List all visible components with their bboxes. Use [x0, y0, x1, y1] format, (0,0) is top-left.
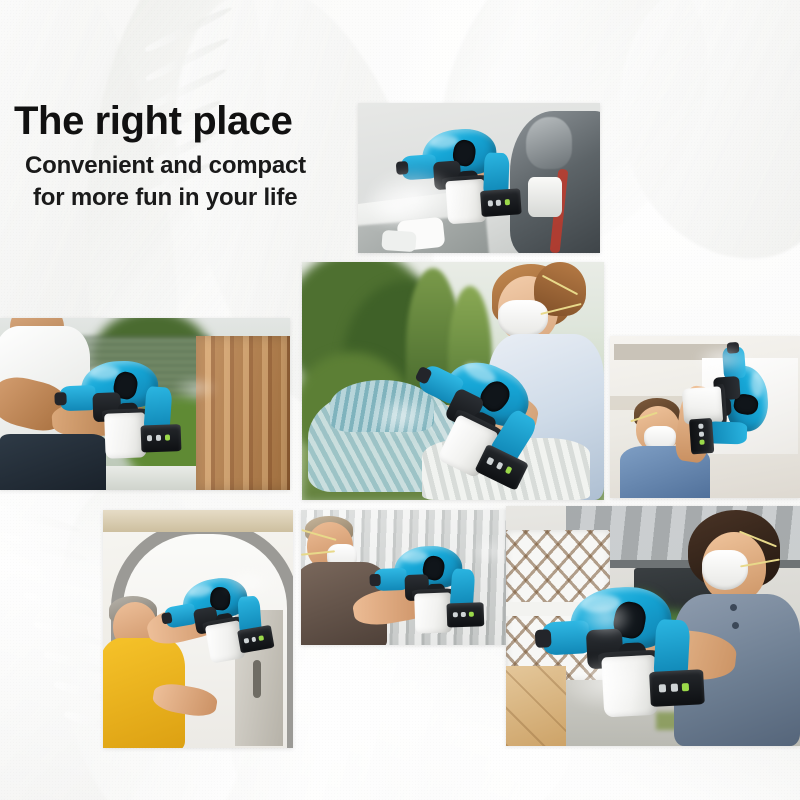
page-subtitle: Convenient and compact for more fun in y…	[14, 150, 374, 213]
paint-sprayer-tool	[56, 352, 196, 469]
face-mask	[498, 300, 548, 338]
photo-panel-bottom-center: Man in a mask spraying corrugated metal …	[301, 510, 506, 645]
photo-panel-bottom-right: Man with long hair and a mask spraying a…	[506, 506, 800, 746]
photo-panel-right: Man in a blue t-shirt spraying a ceiling…	[610, 336, 800, 498]
photo-panel-left: Man in a white tank top spraying a woode…	[0, 318, 290, 490]
subtitle-line-2: for more fun in your life	[25, 182, 374, 214]
subtitle-line-1: Convenient and compact	[25, 150, 374, 182]
photo-panel-center: Woman in a face mask spraying a wicker g…	[302, 262, 604, 500]
page-title: The right place	[14, 101, 374, 141]
promo-banner: The right place Convenient and compact f…	[0, 0, 800, 800]
headline-block: The right place Convenient and compact f…	[14, 101, 374, 213]
photo-panel-top-right: Spraying white paint indoors while weari…	[358, 103, 600, 253]
photo-panel-bottom-left: Man in a yellow t-shirt spraying an arch…	[103, 510, 293, 748]
